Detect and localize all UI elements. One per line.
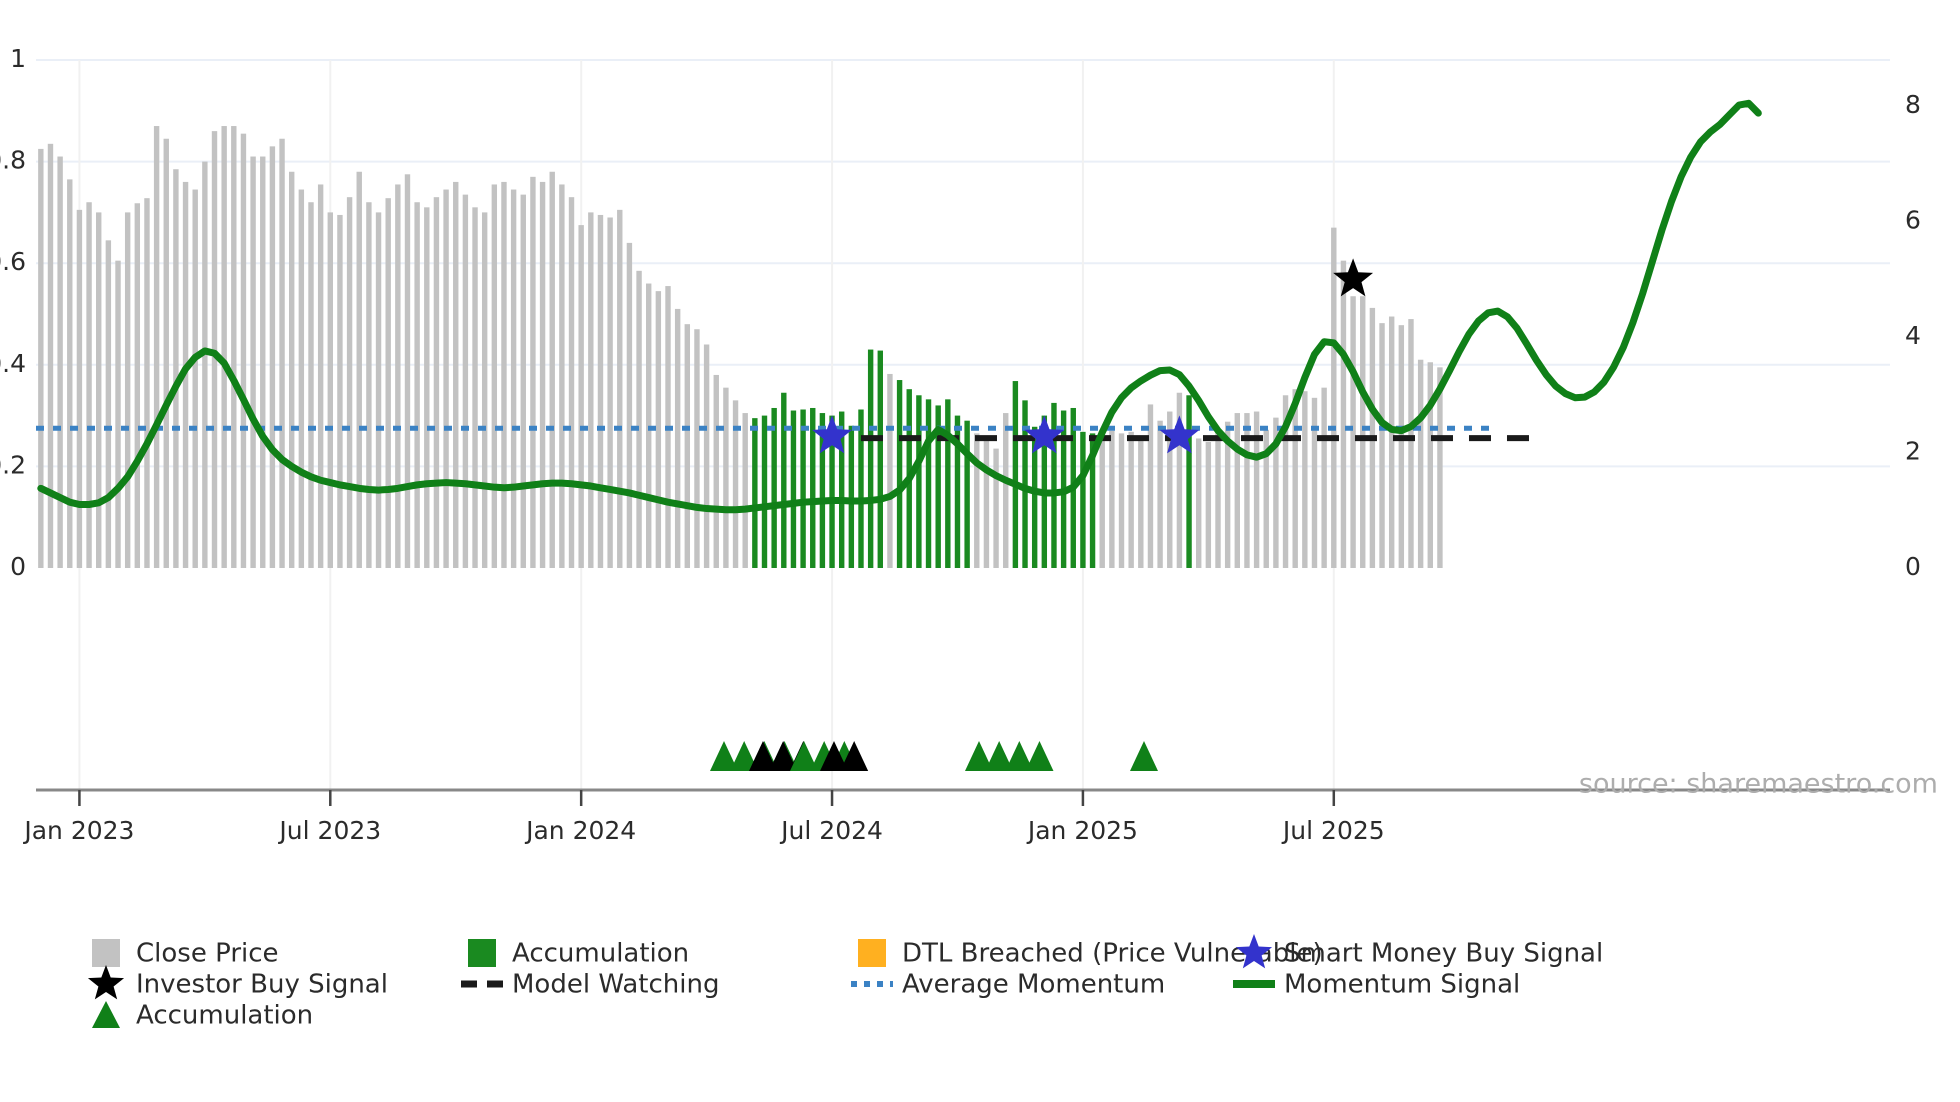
legend-item-label: Accumulation — [512, 939, 689, 969]
close-price-bar — [318, 184, 323, 568]
close-price-bar — [164, 139, 169, 568]
close-price-bar — [1119, 433, 1124, 568]
accumulation-bar — [945, 399, 950, 568]
close-price-bar — [1215, 431, 1220, 568]
y-axis-right-tick-label: 0 — [1905, 552, 1921, 581]
close-price-bar — [588, 212, 593, 568]
close-price-bar — [511, 190, 516, 568]
close-price-bar — [627, 243, 632, 568]
close-price-bar — [1254, 412, 1259, 568]
close-price-bar — [270, 146, 275, 568]
close-price-bar — [424, 207, 429, 568]
close-price-bar — [743, 413, 748, 568]
close-price-bar — [328, 212, 333, 568]
close-price-bar — [569, 197, 574, 568]
close-price-bar — [299, 190, 304, 568]
close-price-bar — [135, 203, 140, 568]
accumulation-bar — [781, 393, 786, 568]
accumulation-bar — [868, 350, 873, 568]
close-price-bar — [1138, 436, 1143, 568]
legend-item-label: Accumulation — [136, 1001, 313, 1031]
close-price-bar — [366, 202, 371, 568]
close-price-bar — [974, 433, 979, 568]
close-price-bar — [1341, 261, 1346, 568]
accumulation-triangle-marker[interactable] — [1130, 741, 1158, 771]
close-price-bar — [57, 157, 62, 568]
close-price-bar — [1408, 319, 1413, 568]
legend-momentum-signal[interactable]: Momentum Signal — [1233, 970, 1520, 1000]
close-price-bar — [144, 198, 149, 568]
y-axis-right-tick-label: 2 — [1905, 437, 1921, 466]
close-price-bar — [694, 329, 699, 568]
accumulation-bar — [878, 351, 883, 568]
close-price-bar — [96, 212, 101, 568]
accumulation-bar — [964, 421, 969, 568]
close-price-bar — [337, 215, 342, 568]
close-price-bar — [289, 172, 294, 568]
close-price-bar — [250, 157, 255, 568]
close-price-bar — [550, 172, 555, 568]
accumulation-bar — [858, 410, 863, 568]
close-price-bar — [241, 134, 246, 568]
legend-item-label: Investor Buy Signal — [136, 970, 388, 1000]
close-price-bar — [1100, 436, 1105, 568]
close-price-bar — [115, 261, 120, 568]
legend-item-label: Momentum Signal — [1284, 970, 1520, 1000]
accumulation-bar — [926, 399, 931, 568]
close-price-bars — [38, 126, 1443, 568]
close-price-bar — [482, 212, 487, 568]
y-axis-left-tick-label: 0.2 — [0, 450, 26, 479]
legend-square-icon — [858, 939, 886, 967]
source-attribution: source: sharemaestro.com — [1579, 769, 1938, 800]
x-axis-tick-label: Jul 2025 — [1281, 816, 1385, 845]
close-price-bar — [501, 182, 506, 568]
close-price-bar — [1312, 398, 1317, 568]
close-price-bar — [1003, 413, 1008, 568]
close-price-bar — [1196, 438, 1201, 568]
close-price-bar — [1379, 323, 1384, 568]
y-axis-right-tick-label: 6 — [1905, 206, 1921, 235]
close-price-bar — [77, 210, 82, 568]
legend-square-icon — [468, 939, 496, 967]
close-price-bar — [173, 169, 178, 568]
y-axis-left-tick-label: 0 — [10, 552, 26, 581]
legend-accumulation-bar[interactable]: Accumulation — [468, 939, 689, 969]
close-price-bar — [1157, 421, 1162, 568]
close-price-bar — [279, 139, 284, 568]
legend-close-price[interactable]: Close Price — [92, 939, 279, 969]
legend-smart-money[interactable]: Smart Money Buy Signal — [1236, 934, 1603, 969]
close-price-bar — [1235, 413, 1240, 568]
close-price-bar — [385, 198, 390, 568]
legend-triangle-icon — [92, 1001, 120, 1028]
close-price-bar — [472, 207, 477, 568]
close-price-bar — [530, 177, 535, 568]
x-axis-tick-label: Jan 2024 — [524, 816, 636, 845]
close-price-bar — [1321, 388, 1326, 568]
close-price-bar — [357, 172, 362, 568]
chart-container: Jan 2023Jul 2023Jan 2024Jul 2024Jan 2025… — [0, 0, 1960, 1102]
legend-item-label: Smart Money Buy Signal — [1284, 939, 1603, 969]
close-price-bar — [723, 388, 728, 568]
close-price-bar — [1206, 442, 1211, 568]
close-price-bar — [656, 291, 661, 568]
close-price-bar — [67, 179, 72, 568]
legend-average-momentum[interactable]: Average Momentum — [851, 970, 1165, 1000]
accumulation-bar — [810, 408, 815, 568]
close-price-bar — [1428, 362, 1433, 568]
close-price-bar — [984, 441, 989, 568]
accumulation-triangle-marker[interactable] — [1025, 741, 1053, 771]
accumulation-bar — [800, 410, 805, 568]
close-price-bar — [260, 157, 265, 568]
x-axis-tick-label: Jan 2023 — [22, 816, 134, 845]
y-axis-left-tick-label: 0.4 — [0, 349, 26, 378]
accumulation-bar — [1080, 432, 1085, 568]
close-price-bar — [607, 217, 612, 568]
accumulation-bar — [849, 426, 854, 568]
y-axis-left-tick-label: 0.8 — [0, 146, 26, 175]
close-price-bar — [521, 195, 526, 568]
close-price-bar — [1302, 391, 1307, 568]
close-price-bar — [125, 212, 130, 568]
close-price-bar — [1331, 228, 1336, 568]
close-price-bar — [1399, 325, 1404, 568]
legend-item-label: Model Watching — [512, 970, 719, 1000]
y-axis-right-tick-label: 4 — [1905, 321, 1921, 350]
close-price-bar — [395, 184, 400, 568]
accumulation-bar — [916, 395, 921, 568]
x-axis-tick-label: Jul 2023 — [277, 816, 381, 845]
accumulation-bar — [791, 411, 796, 568]
close-price-bar — [993, 449, 998, 568]
close-price-bar — [559, 184, 564, 568]
accumulation-bar — [762, 416, 767, 568]
legend-square-icon — [92, 939, 120, 967]
close-price-bar — [1109, 431, 1114, 568]
close-price-bar — [598, 215, 603, 568]
y-axis-right-tick-label: 8 — [1905, 90, 1921, 119]
close-price-bar — [347, 197, 352, 568]
close-price-bar — [434, 197, 439, 568]
close-price-bar — [704, 344, 709, 568]
close-price-bar — [443, 190, 448, 568]
legend-star-icon — [88, 965, 124, 999]
accumulation-bar — [897, 380, 902, 568]
legend-investor-buy[interactable]: Investor Buy Signal — [88, 965, 388, 1000]
close-price-bar — [193, 190, 198, 568]
close-price-bar — [154, 126, 159, 568]
close-price-bar — [86, 202, 91, 568]
x-axis-tick-label: Jul 2024 — [779, 816, 883, 845]
close-price-bar — [48, 144, 53, 568]
accumulation-bar — [771, 408, 776, 568]
close-price-bar — [231, 126, 236, 568]
close-price-bar — [492, 184, 497, 568]
close-price-bar — [733, 400, 738, 568]
close-price-bar — [308, 202, 313, 568]
accumulation-bar — [1013, 381, 1018, 568]
accumulation-bar — [752, 418, 757, 568]
close-price-bar — [463, 195, 468, 568]
legend-model-watching[interactable]: Model Watching — [461, 970, 719, 1000]
close-price-bar — [1350, 296, 1355, 568]
chart-svg: Jan 2023Jul 2023Jan 2024Jul 2024Jan 2025… — [0, 0, 1960, 1102]
close-price-bar — [636, 271, 641, 568]
close-price-bar — [617, 210, 622, 568]
legend-accumulation-triangle[interactable]: Accumulation — [92, 1001, 313, 1031]
close-price-bar — [376, 212, 381, 568]
close-price-bar — [1128, 432, 1133, 568]
close-price-bar — [106, 240, 111, 568]
close-price-bar — [453, 182, 458, 568]
legend-item-label: Average Momentum — [902, 970, 1165, 1000]
legend-item-label: Close Price — [136, 939, 279, 969]
close-price-bar — [1418, 360, 1423, 568]
close-price-bar — [887, 374, 892, 568]
close-price-bar — [714, 375, 719, 568]
close-price-bar — [1389, 317, 1394, 568]
close-price-bar — [685, 324, 690, 568]
accumulation-bar — [1186, 395, 1191, 568]
close-price-bar — [414, 202, 419, 568]
close-price-bar — [221, 126, 226, 568]
close-price-bar — [1360, 296, 1365, 568]
close-price-bar — [405, 174, 410, 568]
accumulation-bar — [1051, 403, 1056, 568]
close-price-bar — [646, 284, 651, 568]
x-axis-tick-label: Jan 2025 — [1026, 816, 1138, 845]
y-axis-left-tick-label: 1 — [10, 44, 26, 73]
close-price-bar — [675, 309, 680, 568]
y-axis-left-tick-label: 0.6 — [0, 247, 26, 276]
close-price-bar — [202, 162, 207, 568]
close-price-bar — [38, 149, 43, 568]
close-price-bar — [540, 182, 545, 568]
close-price-bar — [578, 225, 583, 568]
